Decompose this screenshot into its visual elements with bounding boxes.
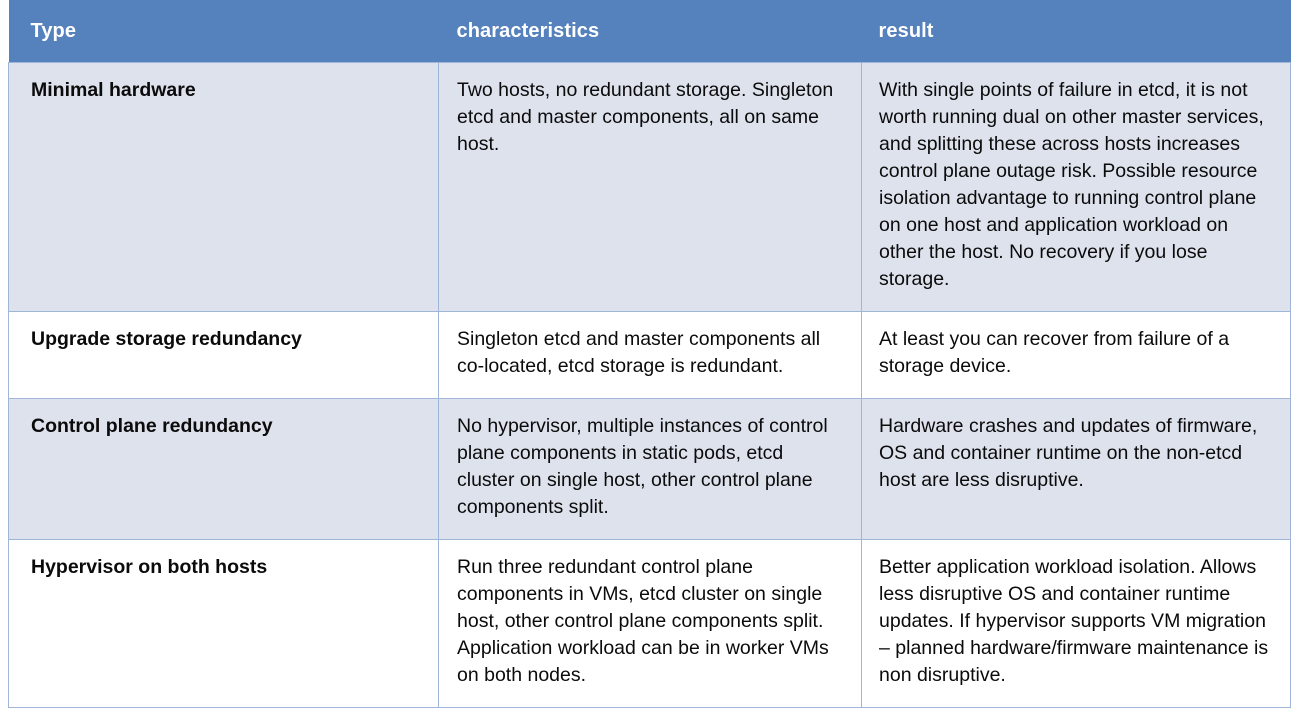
cell-result: With single points of failure in etcd, i… [862,63,1291,312]
cell-result-text: With single points of failure in etcd, i… [879,77,1274,293]
cell-type: Minimal hardware [9,63,439,312]
cell-result: Better application workload isolation. A… [862,540,1291,708]
cell-result-text: Hardware crashes and updates of firmware… [879,413,1274,494]
table-row: Hypervisor on both hosts Run three redun… [9,540,1291,708]
cell-type-text: Hypervisor on both hosts [31,554,422,581]
deployment-options-table: Type characteristics result Minimal hard… [8,0,1291,708]
column-header-type: Type [9,0,439,63]
cell-type-text: Control plane redundancy [31,413,422,440]
cell-type-text: Upgrade storage redundancy [31,326,422,353]
cell-characteristics: Singleton etcd and master components all… [439,312,862,399]
table-body: Minimal hardware Two hosts, no redundant… [9,63,1291,708]
table-row: Control plane redundancy No hypervisor, … [9,399,1291,540]
cell-characteristics-text: Singleton etcd and master components all… [457,326,845,380]
cell-characteristics: No hypervisor, multiple instances of con… [439,399,862,540]
cell-characteristics-text: Run three redundant control plane compon… [457,554,845,689]
cell-characteristics: Two hosts, no redundant storage. Singlet… [439,63,862,312]
cell-result-text: Better application workload isolation. A… [879,554,1274,689]
cell-type: Hypervisor on both hosts [9,540,439,708]
table-header: Type characteristics result [9,0,1291,63]
table-row: Minimal hardware Two hosts, no redundant… [9,63,1291,312]
cell-result: At least you can recover from failure of… [862,312,1291,399]
cell-result: Hardware crashes and updates of firmware… [862,399,1291,540]
column-header-characteristics: characteristics [439,0,862,63]
cell-characteristics: Run three redundant control plane compon… [439,540,862,708]
table-row: Upgrade storage redundancy Singleton etc… [9,312,1291,399]
comparison-table-container: Type characteristics result Minimal hard… [0,0,1302,724]
cell-type: Upgrade storage redundancy [9,312,439,399]
cell-type-text: Minimal hardware [31,77,422,104]
column-header-result: result [862,0,1291,63]
cell-characteristics-text: Two hosts, no redundant storage. Singlet… [457,77,845,158]
cell-characteristics-text: No hypervisor, multiple instances of con… [457,413,845,521]
cell-result-text: At least you can recover from failure of… [879,326,1274,380]
cell-type: Control plane redundancy [9,399,439,540]
table-header-row: Type characteristics result [9,0,1291,63]
